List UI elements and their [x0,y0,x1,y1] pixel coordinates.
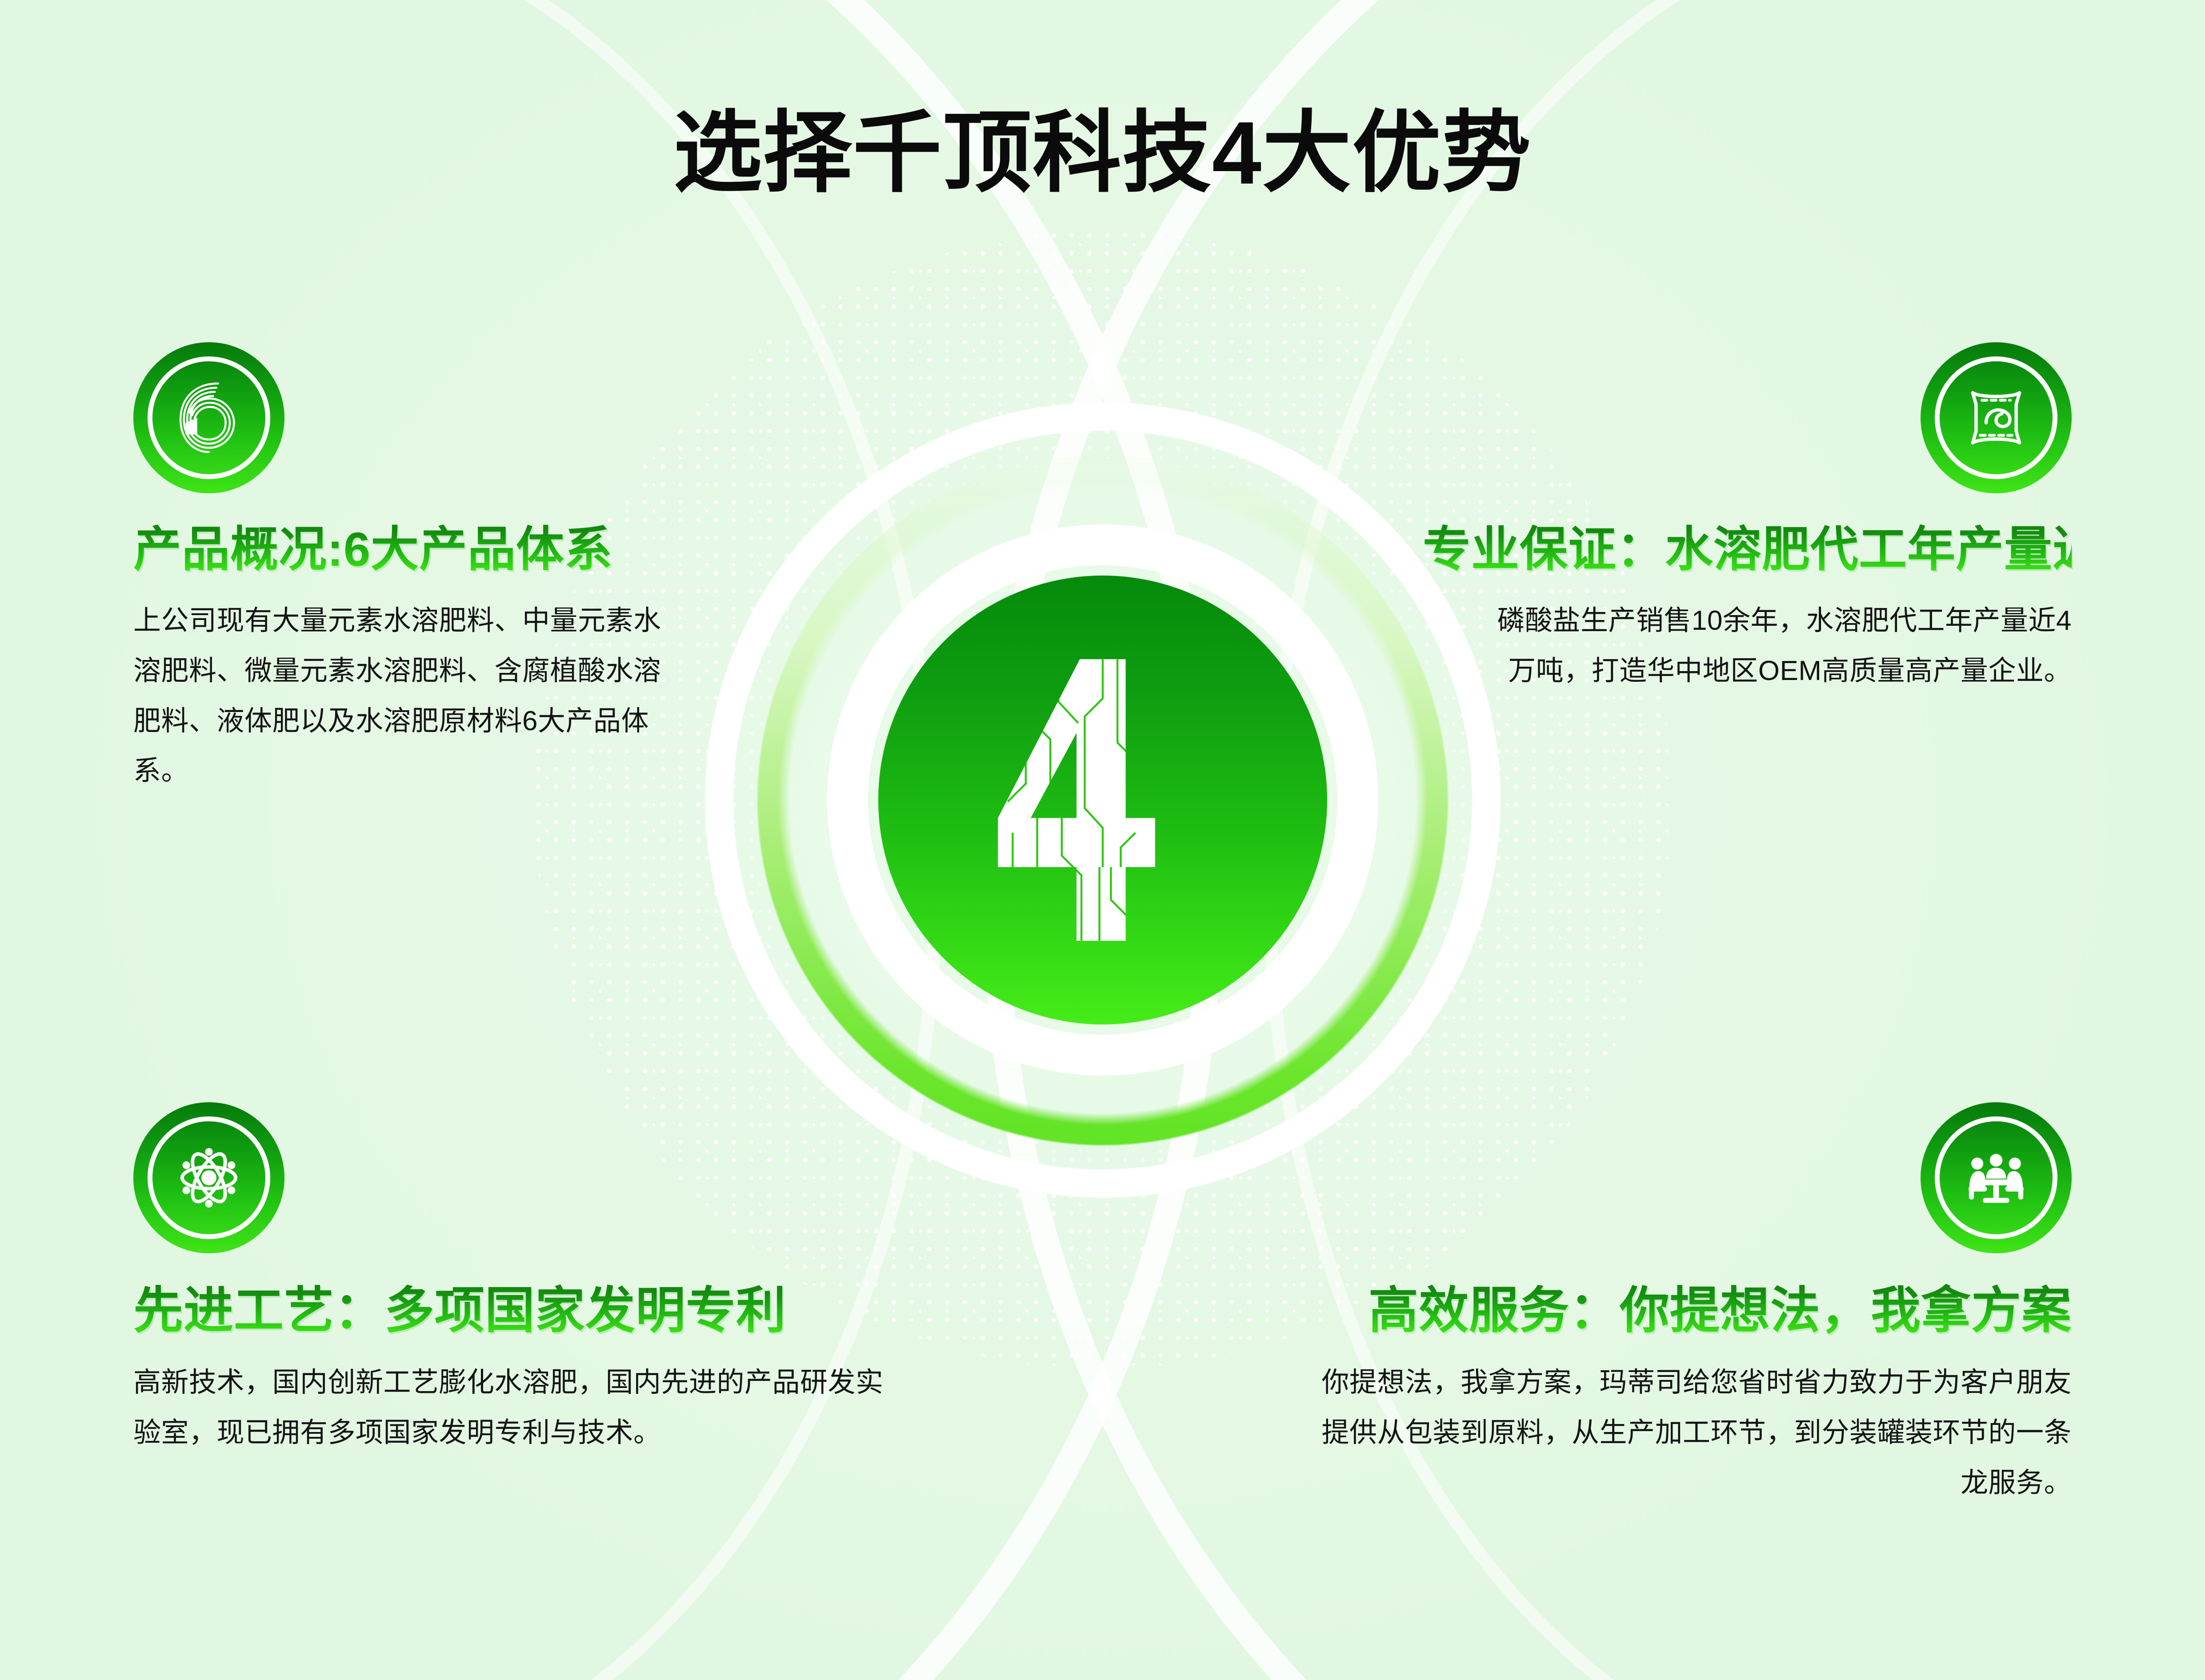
fertilizer-bag-icon [1921,342,2072,493]
advantage-heading: 专业保证：水溶肥代工年产量近4万吨 [1423,523,2072,576]
advantage-heading: 产品概况:6大产品体系 [133,523,729,576]
center-number-4 [878,576,1327,1024]
page-title: 选择千顶科技4大优势 [0,109,2205,198]
advantage-card-bottom-right: 高效服务：你提想法，我拿方案 你提想法，我拿方案，玛蒂司给您省时省力致力于为客户… [1272,1102,2072,1508]
advantage-heading: 先进工艺：多项国家发明专利 [133,1283,933,1338]
atom-icon [133,1102,284,1253]
advantage-body: 磷酸盐生产销售10余年，水溶肥代工年产量近4万吨，打造华中地区OEM高质量高产量… [1489,596,2072,696]
advantage-card-top-left: 产品概况:6大产品体系 上公司现有大量元素水溶肥料、中量元素水溶肥料、微量元素水… [133,342,729,796]
infographic-canvas: 选择千顶科技4大优势 产品概况:6大产品体系 上公司现有大量元素水溶肥料、中量元… [0,0,2205,1680]
advantage-body: 上公司现有大量元素水溶肥料、中量元素水溶肥料、微量元素水溶肥料、含腐植酸水溶肥料… [133,596,662,796]
advantage-card-bottom-left: 先进工艺：多项国家发明专利 高新技术，国内创新工艺膨化水溶肥，国内先进的产品研发… [133,1102,933,1458]
meeting-people-icon [1921,1102,2072,1253]
four-glyph [998,659,1155,941]
number-six-circle-icon [133,342,284,493]
advantage-body: 你提想法，我拿方案，玛蒂司给您省时省力致力于为客户朋友提供从包装到原料，从生产加… [1303,1358,2072,1508]
advantage-body: 高新技术，国内创新工艺膨化水溶肥，国内先进的产品研发实验室，现已拥有多项国家发明… [133,1358,889,1458]
advantage-card-top-right: 专业保证：水溶肥代工年产量近4万吨 磷酸盐生产销售10余年，水溶肥代工年产量近4… [1423,342,2072,696]
advantage-heading: 高效服务：你提想法，我拿方案 [1272,1283,2072,1338]
